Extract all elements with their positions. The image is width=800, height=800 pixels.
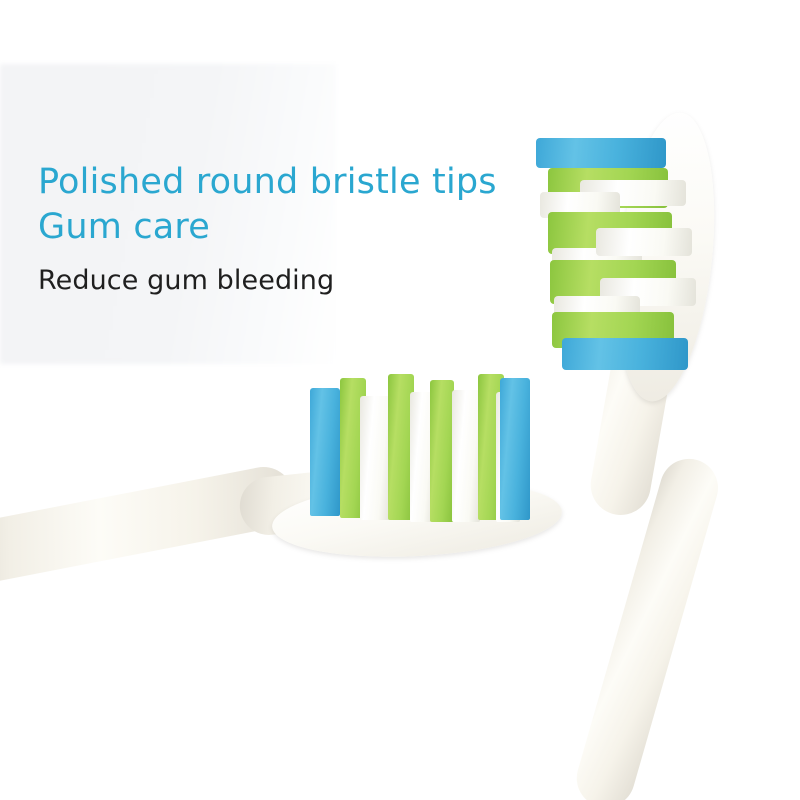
bristle-tuft-white [452, 390, 480, 522]
bristle-tuft-blue [562, 338, 688, 370]
bristle-tuft-green [430, 380, 454, 522]
bristle-tuft-white [360, 396, 390, 520]
headline-line-1: Polished round bristle tips [38, 160, 558, 205]
toothbrush-upper-bristles [500, 100, 800, 800]
headline-line-2: Gum care [38, 205, 558, 250]
bristle-tuft-blue [310, 388, 340, 516]
toothbrush-upper [500, 100, 800, 800]
product-image: Polished round bristle tips Gum care Red… [0, 0, 800, 800]
bristle-tuft-blue [536, 138, 666, 168]
marketing-copy: Polished round bristle tips Gum care Red… [38, 160, 558, 298]
bristle-tuft-white [596, 228, 692, 256]
bristle-tuft-blue [500, 378, 530, 520]
subhead-text: Reduce gum bleeding [38, 264, 558, 298]
